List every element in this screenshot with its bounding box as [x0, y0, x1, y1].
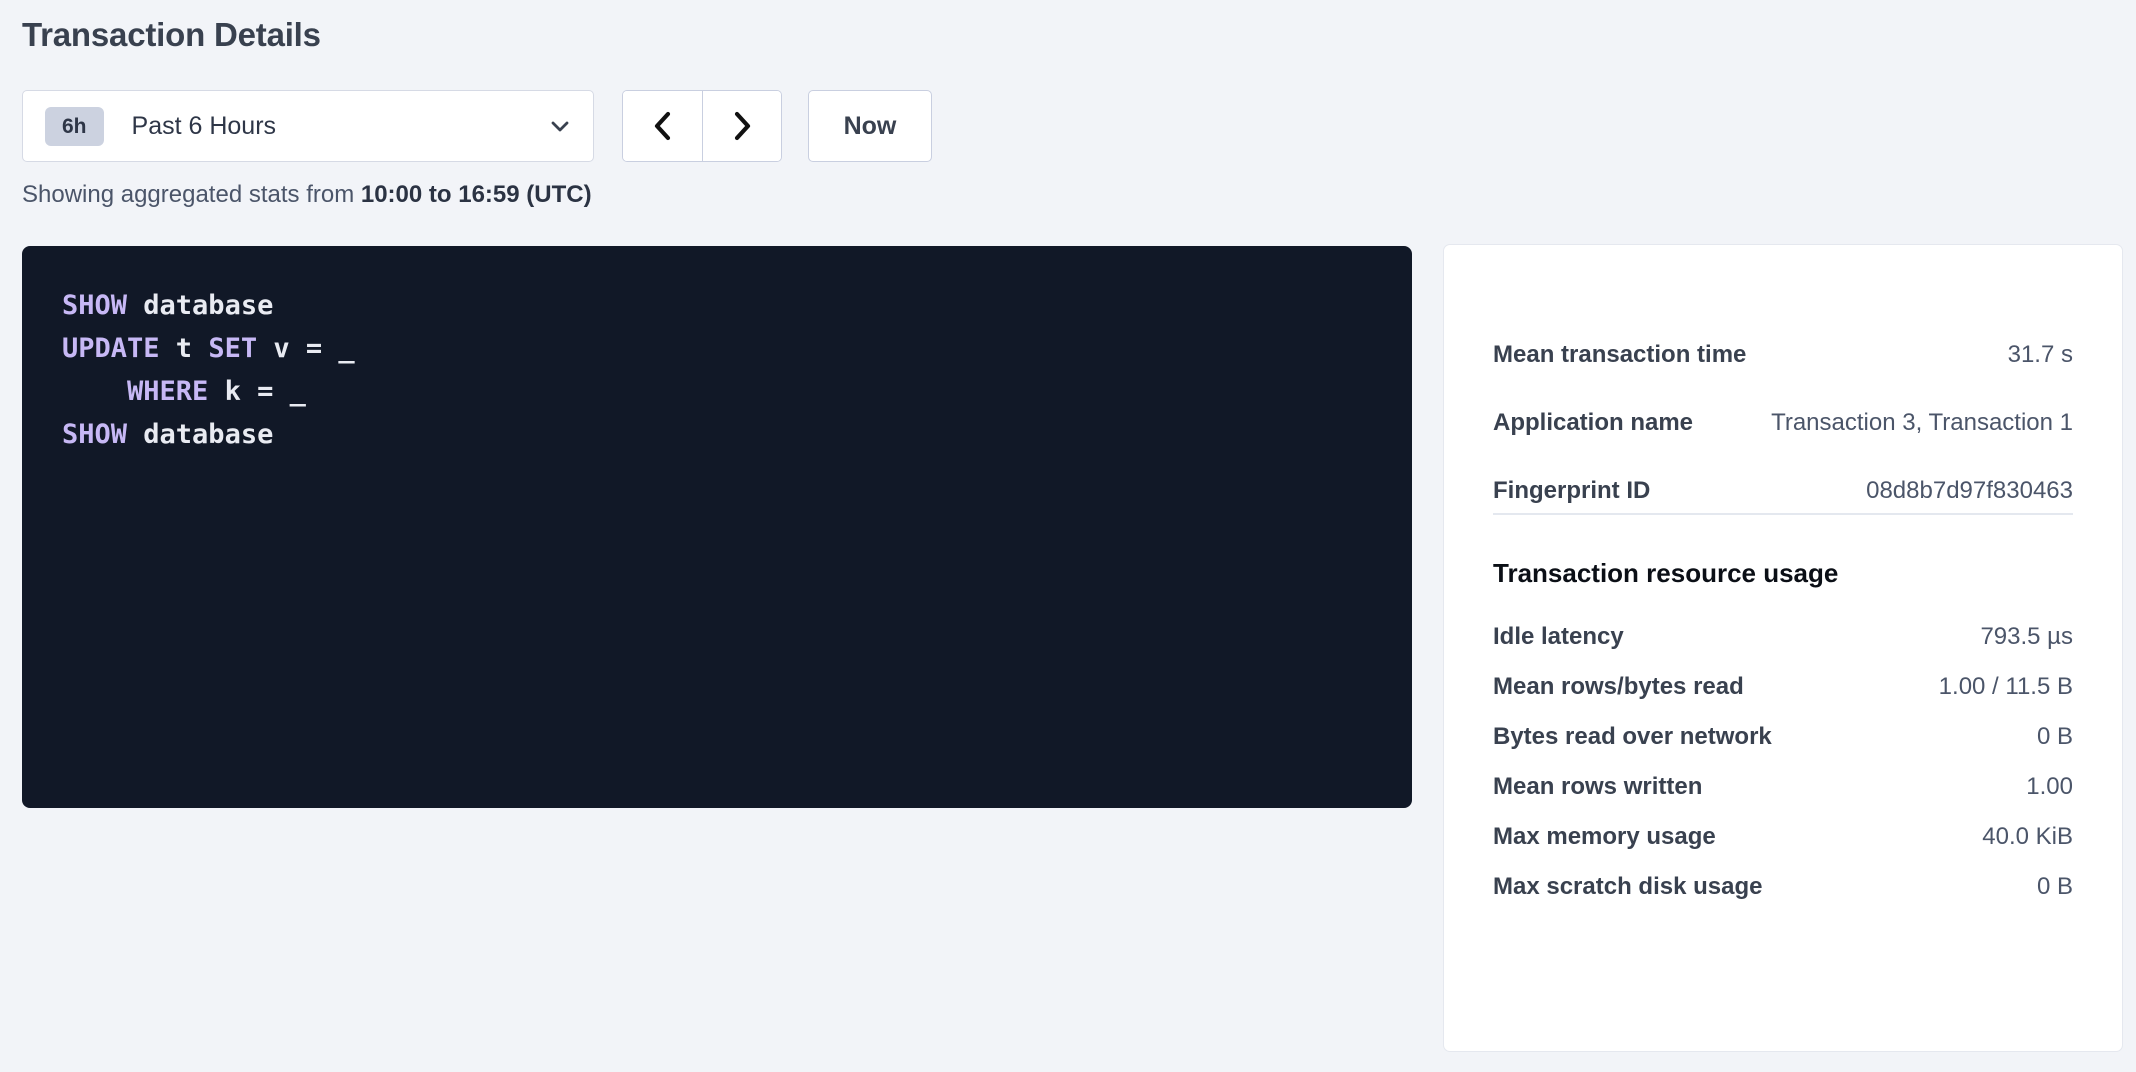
stat-label: Max scratch disk usage: [1493, 873, 1762, 901]
sql-token: SET: [208, 333, 257, 364]
next-button[interactable]: [702, 91, 781, 161]
sql-code-text: SHOW database UPDATE t SET v = _ WHERE k…: [62, 284, 1412, 456]
stat-value: 0 B: [2037, 723, 2073, 751]
sql-token: v = _: [257, 333, 355, 364]
time-range-label: Past 6 Hours: [132, 112, 549, 141]
chevron-left-icon: [649, 109, 677, 143]
time-range-badge: 6h: [45, 107, 104, 146]
toolbar: 6h Past 6 Hours: [22, 90, 932, 162]
aggregation-range-text: Showing aggregated stats from 10:00 to 1…: [22, 181, 592, 209]
sql-token: t: [160, 333, 209, 364]
aggregation-range-value: 10:00 to 16:59 (UTC): [361, 181, 592, 208]
chevron-right-icon: [728, 109, 756, 143]
page-title: Transaction Details: [22, 16, 321, 54]
stat-value: 0 B: [2037, 873, 2073, 901]
stat-value: 40.0 KiB: [1982, 823, 2073, 851]
aggregation-range-prefix: Showing aggregated stats from: [22, 181, 361, 208]
stat-row: Idle latency793.5 µs: [1493, 623, 2073, 651]
stat-value: 1.00 / 11.5 B: [1939, 673, 2073, 701]
stat-row: Mean rows/bytes read1.00 / 11.5 B: [1493, 673, 2073, 701]
now-button[interactable]: Now: [808, 90, 932, 162]
chevron-down-icon: [549, 115, 571, 137]
stat-row: Fingerprint ID08d8b7d97f830463: [1493, 477, 2073, 505]
stat-row: Bytes read over network0 B: [1493, 723, 2073, 751]
stat-row: Mean transaction time31.7 s: [1493, 341, 2073, 369]
transaction-details-page: Transaction Details 6h Past 6 Hours: [0, 0, 2136, 1072]
stat-value: 1.00: [2026, 773, 2073, 801]
stat-label: Bytes read over network: [1493, 723, 1772, 751]
sql-token: SHOW: [62, 419, 127, 450]
stat-row: Application nameTransaction 3, Transacti…: [1493, 409, 2073, 437]
stat-label: Mean rows written: [1493, 773, 1702, 801]
sql-token: database: [127, 290, 273, 321]
sql-token: SHOW: [62, 290, 127, 321]
card-divider: [1493, 513, 2073, 515]
sql-token: k = _: [208, 376, 306, 407]
stat-label: Mean rows/bytes read: [1493, 673, 1744, 701]
stat-label: Idle latency: [1493, 623, 1624, 651]
sql-token: WHERE: [62, 376, 208, 407]
stat-label: Application name: [1493, 409, 1693, 437]
time-nav-group: [622, 90, 782, 162]
stat-label: Mean transaction time: [1493, 341, 1746, 369]
time-range-select[interactable]: 6h Past 6 Hours: [22, 90, 594, 162]
sql-token: UPDATE: [62, 333, 160, 364]
prev-button[interactable]: [623, 91, 702, 161]
stat-value: 793.5 µs: [1980, 623, 2073, 651]
resource-usage-heading: Transaction resource usage: [1493, 558, 1838, 589]
stat-label: Max memory usage: [1493, 823, 1716, 851]
stat-value: 08d8b7d97f830463: [1866, 477, 2073, 505]
sql-token: database: [127, 419, 273, 450]
stat-row: Max memory usage40.0 KiB: [1493, 823, 2073, 851]
transaction-stats-card: Transaction resource usage Mean transact…: [1443, 244, 2123, 1052]
stat-label: Fingerprint ID: [1493, 477, 1650, 505]
stat-value: Transaction 3, Transaction 1: [1771, 409, 2073, 437]
sql-code-panel[interactable]: SHOW database UPDATE t SET v = _ WHERE k…: [22, 246, 1412, 808]
stat-row: Mean rows written1.00: [1493, 773, 2073, 801]
stat-value: 31.7 s: [2008, 341, 2073, 369]
stat-row: Max scratch disk usage0 B: [1493, 873, 2073, 901]
